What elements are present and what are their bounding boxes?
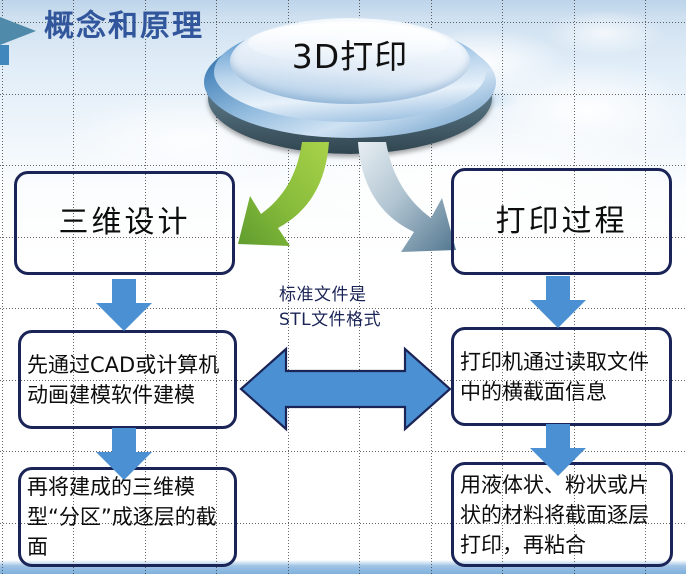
box-cad-modeling-label: 先通过CAD或计算机动画建模软件建模 [21,350,234,410]
title-disc: 3D打印 [200,8,500,158]
box-read-file-label: 打印机通过读取文件中的横截面信息 [454,347,669,407]
center-note-line-2: STL文件格式 [279,308,449,333]
down-arrow-icon [530,276,586,328]
arrow-stem [112,279,136,305]
arrow-head [96,303,152,331]
slide-canvas: 概念和原理 3D打印 三维设计 [0,0,686,574]
bidirectional-arrow-icon [238,345,453,433]
box-cad-modeling[interactable]: 先通过CAD或计算机动画建模软件建模 [18,330,237,429]
box-slice-model[interactable]: 再将建成的三维模型“分区”成逐层的截面 [18,467,237,567]
box-three-d-design-label: 三维设计 [17,206,232,240]
box-material-print[interactable]: 用液体状、粉状或片状的材料将截面逐层打印，再粘合 [451,462,673,567]
arrow-head [96,452,152,480]
box-read-file[interactable]: 打印机通过读取文件中的横截面信息 [451,327,672,426]
box-material-print-label: 用液体状、粉状或片状的材料将截面逐层打印，再粘合 [454,470,670,560]
down-arrow-icon [96,279,152,331]
banner-bar [0,45,9,65]
arrow-head [530,300,586,328]
box-three-d-design[interactable]: 三维设计 [14,171,235,275]
disc-label: 3D打印 [200,30,500,78]
center-note-line-1: 标准文件是 [279,283,449,308]
arrow-stem [546,276,570,302]
cloud-shape [545,10,665,56]
box-slice-model-label: 再将建成的三维模型“分区”成逐层的截面 [21,472,234,562]
arrow-stem [112,428,136,454]
box-print-process[interactable]: 打印过程 [451,168,672,275]
page-title: 概念和原理 [44,10,204,44]
arrow-head [530,448,586,476]
banner-arrow-icon [0,17,36,45]
box-print-process-label: 打印过程 [454,205,669,239]
down-arrow-icon [530,424,586,476]
down-arrow-icon [96,428,152,480]
arrow-stem [546,424,570,450]
center-note: 标准文件是 STL文件格式 [279,283,449,333]
